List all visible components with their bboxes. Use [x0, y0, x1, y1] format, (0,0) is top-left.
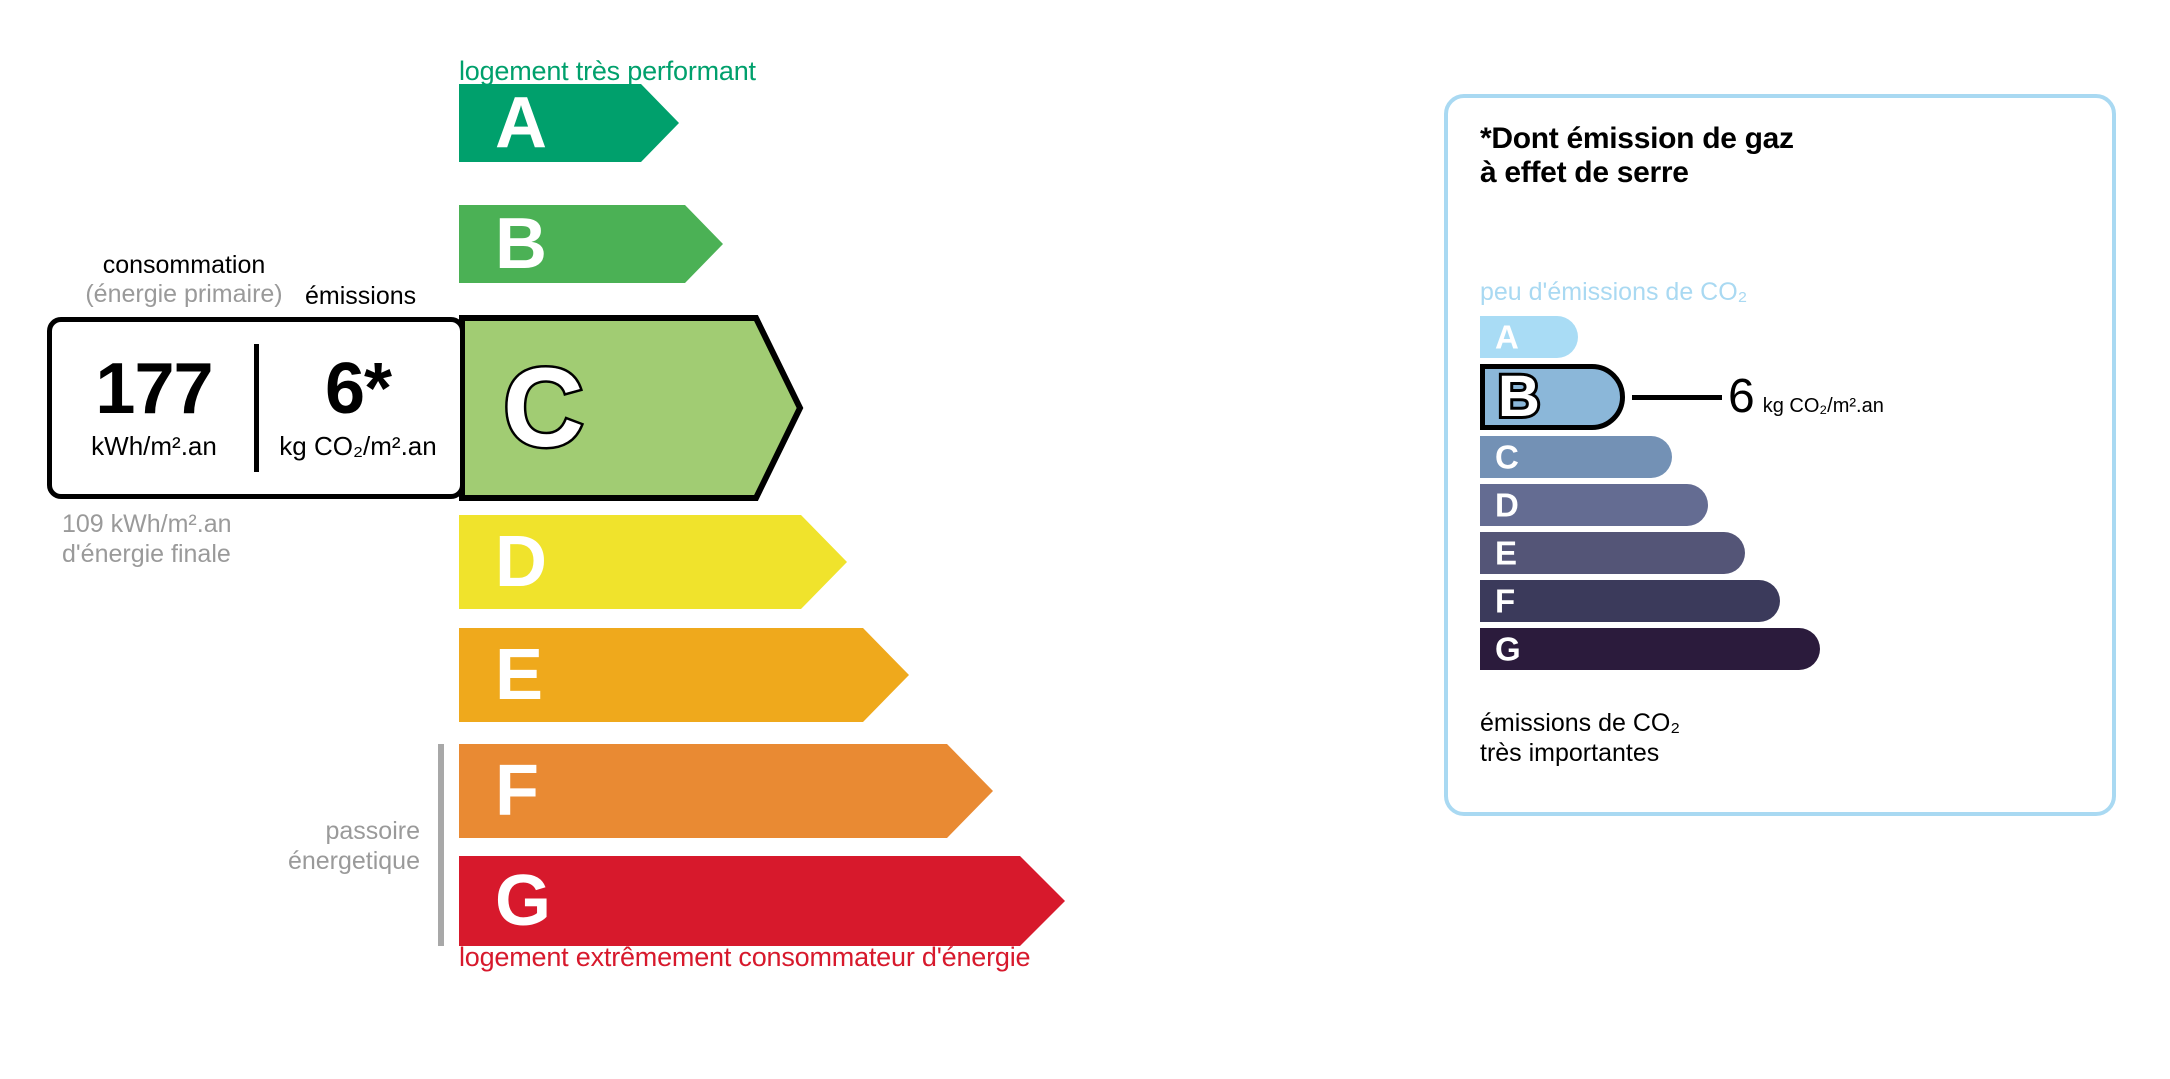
greenhouse-gas-panel: *Dont émission de gaz à effet de serre p… [1444, 94, 2116, 816]
ges-callout: 6kg CO₂/m².an [1728, 373, 1884, 421]
consumption-unit: kWh/m².an [91, 431, 217, 462]
passoire-label: passoire énergetique [190, 816, 420, 876]
ges-callout-unit: kg CO₂/m².an [1763, 395, 1884, 417]
ges-letter-b: B [1498, 368, 1540, 426]
emissions-value: 6* [325, 354, 391, 425]
energy-class-bar-c: C [459, 315, 804, 501]
energy-class-bar-f: F [459, 744, 993, 838]
energy-class-letter-g: G [495, 865, 551, 937]
emissions-value-cell: 6* kg CO₂/m².an [256, 322, 460, 494]
emissions-caption: émissions [305, 282, 416, 311]
ges-letter-e: E [1495, 537, 1517, 570]
final-energy-note: 109 kWh/m².an d'énergie finale [62, 509, 232, 569]
ges-bar-f [1480, 580, 1780, 622]
ges-bar-g [1480, 628, 1820, 670]
energy-class-bar-b: B [459, 205, 723, 283]
consumption-caption-main: consommation [103, 251, 266, 279]
energy-class-letter-d: D [495, 526, 547, 598]
passoire-bracket [438, 744, 444, 946]
energy-class-bar-d: D [459, 515, 847, 609]
ges-letter-g: G [1495, 633, 1521, 666]
energy-class-letter-f: F [495, 755, 539, 827]
energy-class-bar-g: G [459, 856, 1065, 946]
energy-class-letter-a: A [495, 87, 547, 159]
energy-class-bar-e: E [459, 628, 909, 722]
arrow-shape-a [459, 84, 679, 162]
energy-class-letter-e: E [495, 639, 543, 711]
ges-letter-c: C [1495, 441, 1519, 474]
arrow-shape-f [459, 744, 993, 838]
emissions-unit: kg CO₂/m².an [279, 431, 436, 462]
energy-class-letter-c: C [503, 352, 584, 464]
ges-callout-leader-line [1632, 395, 1722, 400]
ges-panel-title: *Dont émission de gaz à effet de serre [1480, 122, 1794, 190]
consumption-caption: consommation (énergie primaire) [64, 251, 304, 309]
ges-letter-a: A [1495, 321, 1519, 354]
consumption-caption-sub: (énergie primaire) [64, 280, 304, 309]
ges-bar-e [1480, 532, 1745, 574]
consumption-value-cell: 177 kWh/m².an [52, 322, 256, 494]
energy-class-bar-a: A [459, 84, 679, 162]
measured-values-box: 177 kWh/m².an 6* kg CO₂/m².an [47, 317, 465, 499]
energy-performance-diagram: logement très performant A B C D E [0, 0, 1400, 1079]
ges-letter-d: D [1495, 489, 1519, 522]
ges-callout-value: 6 [1728, 370, 1755, 423]
ges-top-label: peu d'émissions de CO₂ [1480, 278, 1747, 307]
ges-letter-f: F [1495, 585, 1515, 618]
energy-class-letter-b: B [495, 208, 547, 280]
scale-bottom-label: logement extrêmement consommateur d'éner… [459, 942, 1030, 973]
ges-bottom-label: émissions de CO₂ très importantes [1480, 708, 1680, 768]
consumption-value: 177 [95, 354, 212, 425]
